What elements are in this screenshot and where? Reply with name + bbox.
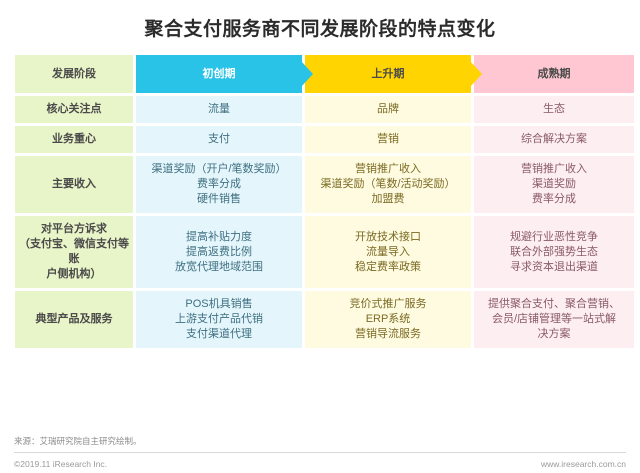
cell-line: 提高补贴力度 <box>140 230 298 245</box>
cell-line: 渠道奖励（笔数/活动奖励） <box>309 177 467 192</box>
website-url: www.iresearch.com.cn <box>541 459 626 469</box>
header-cell-stage: 发展阶段 <box>15 55 133 93</box>
header-cell-mature: 成熟期 <box>474 55 634 93</box>
cell-platform-demands-startup: 提高补贴力度 提高返费比例 放宽代理地域范围 <box>136 216 302 288</box>
cell-line: 寻求资本退出渠道 <box>478 260 630 275</box>
cell-main-revenue-startup: 渠道奖励（开户/笔数奖励） 费率分成 硬件销售 <box>136 156 302 213</box>
cell-line: 提供聚合支付、聚合营销、 <box>478 297 630 312</box>
cell-line: 上游支付产品代销 <box>140 312 298 327</box>
header-cell-startup: 初创期 <box>136 55 302 93</box>
row-label-typical-products: 典型产品及服务 <box>15 291 133 348</box>
cell-main-revenue-mature: 营销推广收入 渠道奖励 费率分成 <box>474 156 634 213</box>
cell-platform-demands-mature: 规避行业恶性竞争 联合外部强势生态 寻求资本退出渠道 <box>474 216 634 288</box>
stage-comparison-table-wrapper: 发展阶段 初创期 上升期 成熟期 核心关注点 流量 品牌 生态 <box>12 52 628 351</box>
cell-line: POS机具销售 <box>140 297 298 312</box>
cell-typical-products-startup: POS机具销售 上游支付产品代销 支付渠道代理 <box>136 291 302 348</box>
cell-business-focus-mature: 综合解决方案 <box>474 126 634 153</box>
cell-business-focus-startup: 支付 <box>136 126 302 153</box>
cell-line: ERP系统 <box>309 312 467 327</box>
table-row: 核心关注点 流量 品牌 生态 <box>15 96 634 123</box>
footer-divider <box>14 452 626 453</box>
row-label-business-focus: 业务重心 <box>15 126 133 153</box>
table-row: 对平台方诉求 （支付宝、微信支付等账 户侧机构） 提高补贴力度 提高返费比例 放… <box>15 216 634 288</box>
cell-main-revenue-growth: 营销推广收入 渠道奖励（笔数/活动奖励） 加盟费 <box>305 156 471 213</box>
table-row: 典型产品及服务 POS机具销售 上游支付产品代销 支付渠道代理 竞价式推广服务 … <box>15 291 634 348</box>
cell-business-focus-growth: 营销 <box>305 126 471 153</box>
row-label-core-focus: 核心关注点 <box>15 96 133 123</box>
copyright-text: ©2019.11 iResearch Inc. <box>14 459 107 469</box>
header-cell-growth: 上升期 <box>305 55 471 93</box>
page-title: 聚合支付服务商不同发展阶段的特点变化 <box>0 0 640 52</box>
cell-line: 竞价式推广服务 <box>309 297 467 312</box>
cell-core-focus-growth: 品牌 <box>305 96 471 123</box>
row-label-line: 户侧机构） <box>19 267 129 282</box>
table-header-row: 发展阶段 初创期 上升期 成熟期 <box>15 55 634 93</box>
table-row: 业务重心 支付 营销 综合解决方案 <box>15 126 634 153</box>
cell-line: 放宽代理地域范围 <box>140 260 298 275</box>
cell-line: 费率分成 <box>478 192 630 207</box>
cell-line: 流量导入 <box>309 245 467 260</box>
stage-comparison-table: 发展阶段 初创期 上升期 成熟期 核心关注点 流量 品牌 生态 <box>12 52 637 351</box>
cell-platform-demands-growth: 开放技术接口 流量导入 稳定费率政策 <box>305 216 471 288</box>
cell-line: 规避行业恶性竞争 <box>478 230 630 245</box>
cell-line: 营销推广收入 <box>478 162 630 177</box>
cell-line: 会员/店铺管理等一站式解 <box>478 312 630 327</box>
cell-line: 开放技术接口 <box>309 230 467 245</box>
row-label-line: （支付宝、微信支付等账 <box>19 237 129 267</box>
cell-line: 营销导流服务 <box>309 327 467 342</box>
row-label-main-revenue: 主要收入 <box>15 156 133 213</box>
cell-line: 渠道奖励（开户/笔数奖励） <box>140 162 298 177</box>
cell-line: 加盟费 <box>309 192 467 207</box>
cell-line: 支付渠道代理 <box>140 327 298 342</box>
row-label-platform-demands: 对平台方诉求 （支付宝、微信支付等账 户侧机构） <box>15 216 133 288</box>
arrow-right-icon-1 <box>301 61 313 87</box>
infographic-page: 聚合支付服务商不同发展阶段的特点变化 发展阶段 初创期 上升期 <box>0 0 640 473</box>
cell-core-focus-startup: 流量 <box>136 96 302 123</box>
row-label-line: 对平台方诉求 <box>19 222 129 237</box>
cell-line: 提高返费比例 <box>140 245 298 260</box>
cell-line: 渠道奖励 <box>478 177 630 192</box>
arrow-right-icon-2 <box>470 61 482 87</box>
footer: ©2019.11 iResearch Inc. www.iresearch.co… <box>14 459 626 469</box>
cell-line: 联合外部强势生态 <box>478 245 630 260</box>
cell-typical-products-mature: 提供聚合支付、聚合营销、 会员/店铺管理等一站式解 决方案 <box>474 291 634 348</box>
cell-line: 硬件销售 <box>140 192 298 207</box>
cell-line: 稳定费率政策 <box>309 260 467 275</box>
cell-typical-products-growth: 竞价式推广服务 ERP系统 营销导流服务 <box>305 291 471 348</box>
cell-core-focus-mature: 生态 <box>474 96 634 123</box>
cell-line: 决方案 <box>478 327 630 342</box>
header-label-growth: 上升期 <box>372 68 405 80</box>
cell-line: 费率分成 <box>140 177 298 192</box>
cell-line: 营销推广收入 <box>309 162 467 177</box>
header-label-startup: 初创期 <box>203 68 236 80</box>
table-row: 主要收入 渠道奖励（开户/笔数奖励） 费率分成 硬件销售 营销推广收入 渠道奖励… <box>15 156 634 213</box>
source-note: 来源：艾瑞研究院自主研究绘制。 <box>14 435 142 447</box>
